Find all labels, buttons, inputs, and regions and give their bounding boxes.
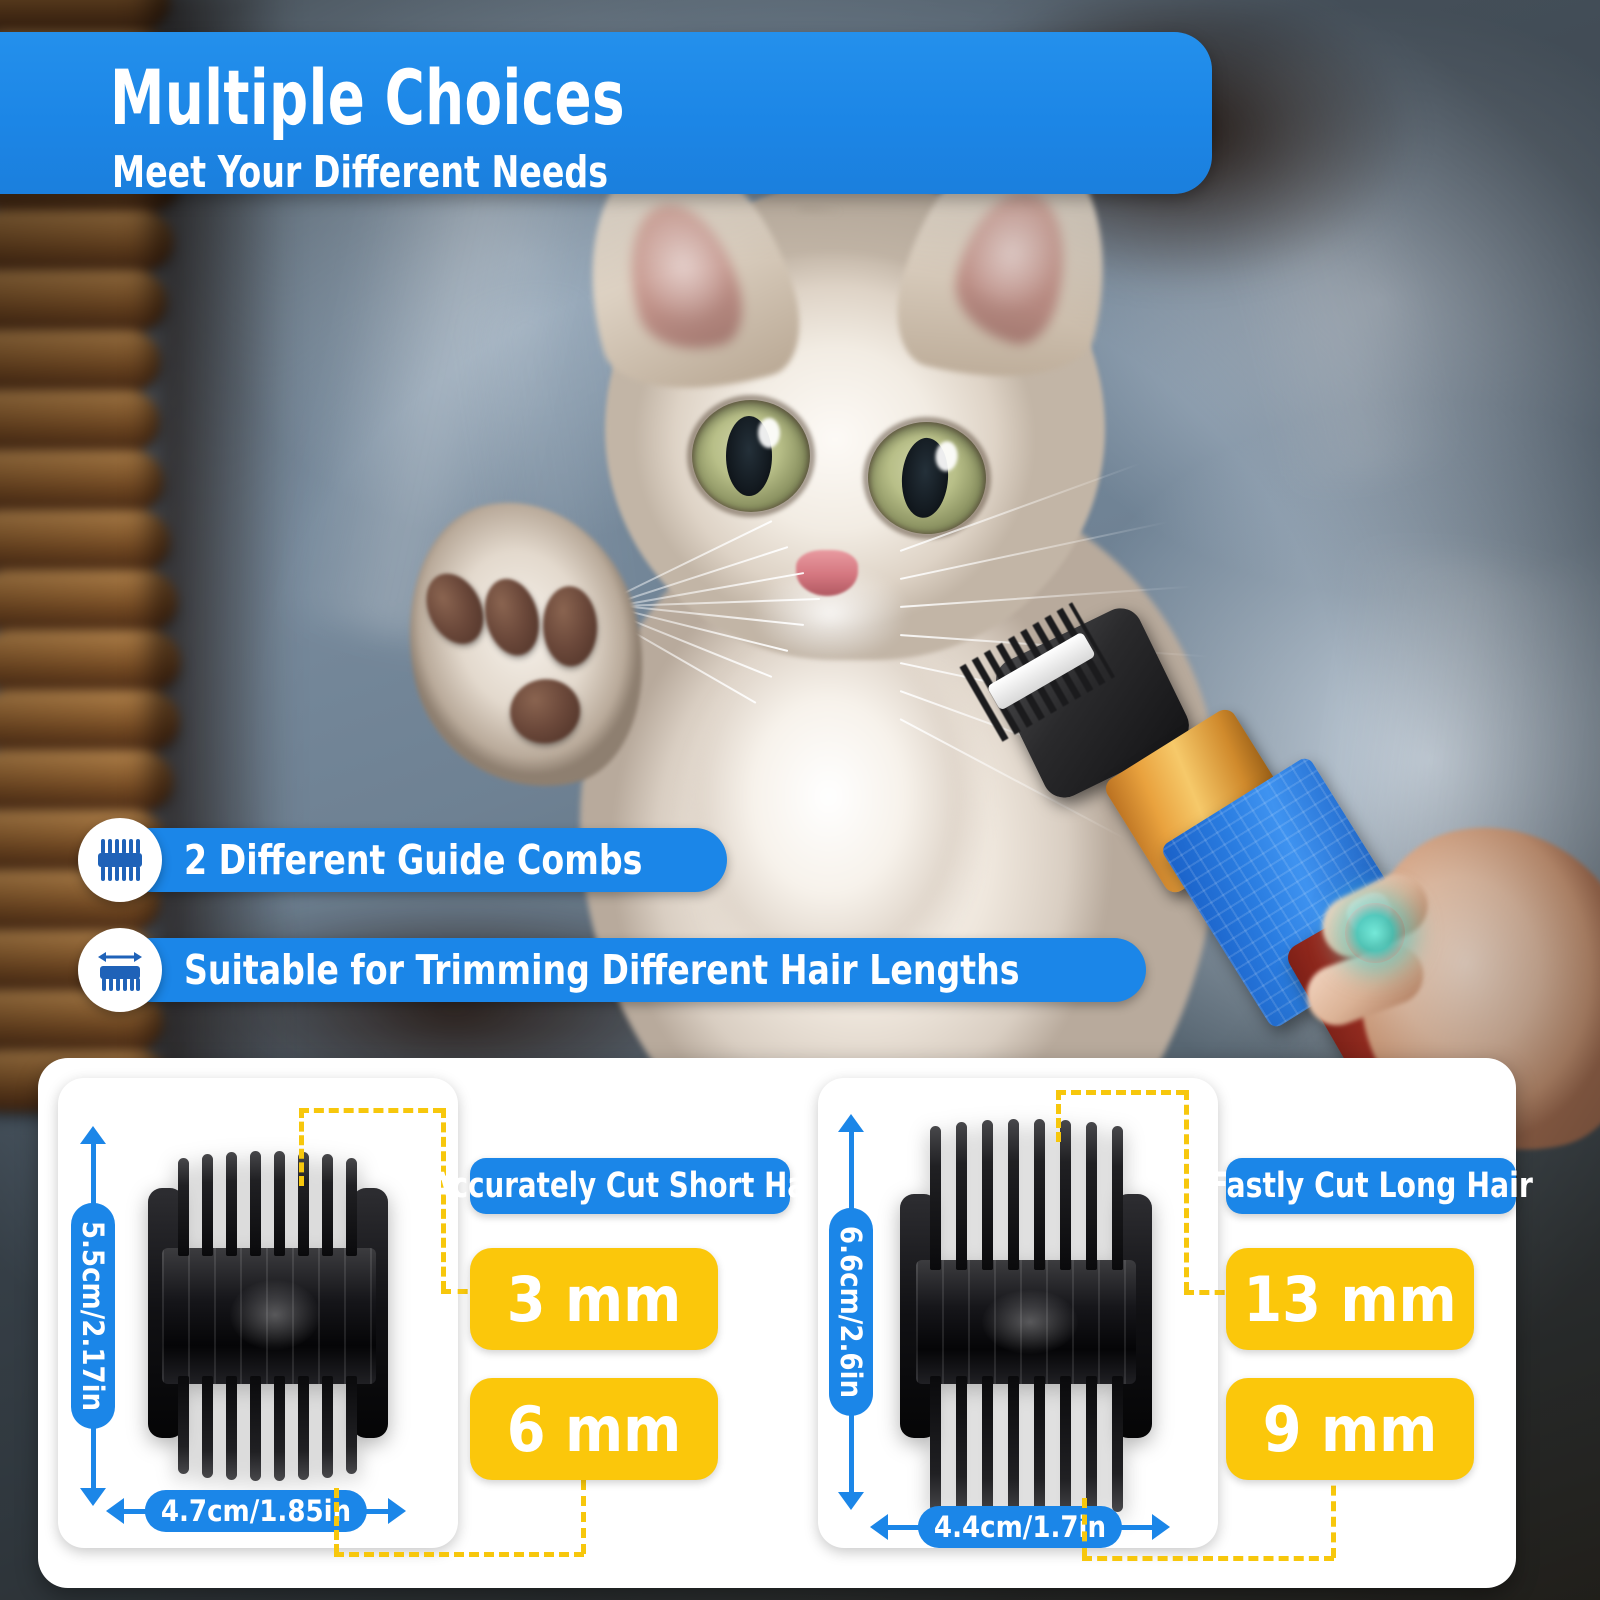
basket-reed: [0, 750, 173, 812]
feature-item-hair-lengths: Suitable for Trimming Different Hair Len…: [78, 928, 1146, 1012]
basket-reed: [0, 0, 170, 32]
size-badge-3mm: 3 mm: [470, 1248, 718, 1350]
callout-dash: [1331, 1470, 1336, 1558]
basket-reed: [0, 510, 170, 572]
basket-reed: [0, 330, 161, 392]
comb-width-icon: [78, 928, 162, 1012]
page-title: Multiple Choices: [110, 60, 625, 136]
comb-width-label: 4.4cm/1.7in: [918, 1506, 1122, 1548]
size-label: 13 mm: [1243, 1263, 1456, 1336]
callout-dash: [1184, 1090, 1189, 1292]
callout-dash: [1056, 1090, 1186, 1095]
comb-title-badge-long: Fastly Cut Long Hair: [1226, 1158, 1516, 1214]
feature-label: Suitable for Trimming Different Hair Len…: [184, 946, 1020, 994]
size-label: 9 mm: [1263, 1393, 1437, 1466]
callout-dash: [1056, 1090, 1061, 1142]
header-banner: Multiple Choices Meet Your Different Nee…: [0, 32, 1212, 194]
page-subtitle: Meet Your Different Needs: [112, 150, 608, 196]
callout-dash: [299, 1108, 304, 1186]
comb-height-dimension-short: 5.5cm/2.17in: [80, 1126, 106, 1506]
comb-height-label: 5.5cm/2.17in: [71, 1203, 115, 1429]
comb-double-icon: [78, 818, 162, 902]
size-label: 6 mm: [507, 1393, 681, 1466]
size-label: 3 mm: [507, 1263, 681, 1336]
basket-reed: [0, 210, 173, 272]
size-badge-13mm: 13 mm: [1226, 1248, 1474, 1350]
comb-card-long-hair: 6.6cm/2.6in 4.4cm/1.7in: [818, 1078, 1218, 1548]
callout-dash: [299, 1108, 443, 1113]
spec-panel: 5.5cm/2.17in 4.7cm/1.85in Accurately Cut…: [38, 1058, 1516, 1588]
comb-title-badge-short: Accurately Cut Short Hair: [470, 1158, 790, 1214]
comb-title-label: Fastly Cut Long Hair: [1209, 1166, 1533, 1206]
comb-height-dimension-long: 6.6cm/2.6in: [838, 1114, 864, 1510]
size-badge-6mm: 6 mm: [470, 1378, 718, 1480]
feature-pill: Suitable for Trimming Different Hair Len…: [120, 938, 1146, 1002]
comb-card-short-hair: 5.5cm/2.17in 4.7cm/1.85in: [58, 1078, 458, 1548]
comb-height-label: 6.6cm/2.6in: [829, 1208, 873, 1416]
comb-width-dimension-long: 4.4cm/1.7in: [870, 1514, 1170, 1540]
comb-width-dimension-short: 4.7cm/1.85in: [106, 1498, 406, 1524]
size-badge-9mm: 9 mm: [1226, 1378, 1474, 1480]
pet-clipper: [975, 585, 1595, 1105]
basket-reed: [0, 390, 160, 452]
basket-reed: [0, 270, 167, 332]
callout-dash: [1082, 1556, 1334, 1561]
callout-dash: [1082, 1498, 1087, 1558]
basket-reed: [0, 450, 164, 512]
callout-dash: [334, 1552, 584, 1557]
feature-item-guide-combs: 2 Different Guide Combs: [78, 818, 727, 902]
clipper-power-button[interactable]: [1345, 903, 1405, 963]
feature-pill: 2 Different Guide Combs: [120, 828, 727, 892]
guide-comb-image-short: [134, 1130, 404, 1500]
feature-label: 2 Different Guide Combs: [184, 836, 642, 884]
product-infographic: Multiple Choices Meet Your Different Nee…: [0, 0, 1600, 1600]
callout-dash: [334, 1488, 339, 1554]
guide-comb-image-long: [890, 1110, 1170, 1520]
comb-title-label: Accurately Cut Short Hair: [431, 1166, 830, 1206]
